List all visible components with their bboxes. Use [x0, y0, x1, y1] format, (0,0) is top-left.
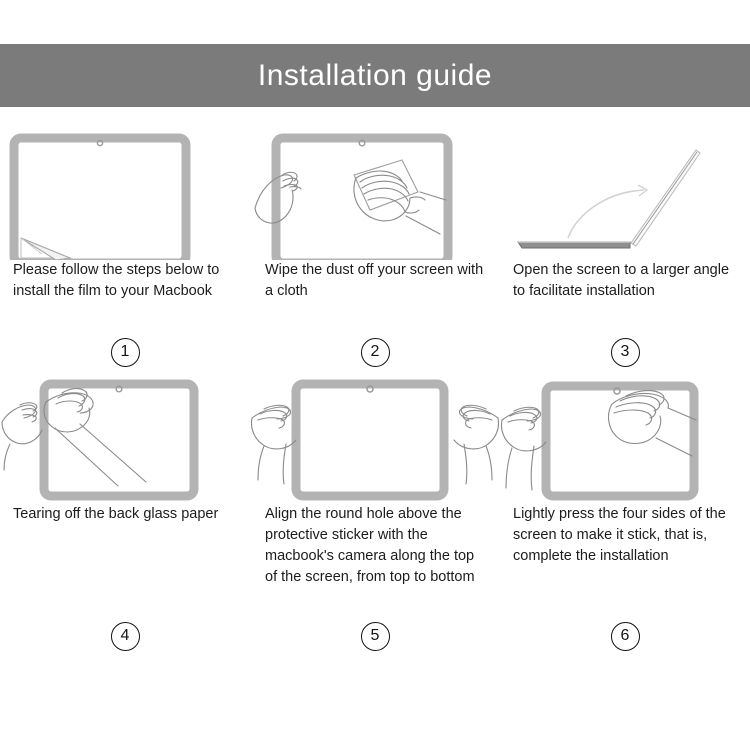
step-2-number-wrap: 2 [250, 330, 500, 374]
step-1-illustration [0, 130, 250, 260]
left-hand-icon [251, 405, 296, 484]
step-number-badge: 3 [611, 338, 640, 367]
step-5-number-wrap: 5 [250, 614, 500, 658]
step-card-4: Tearing off the back glass paper 4 [0, 374, 250, 658]
screen-frame-icon [14, 138, 186, 260]
step-6-illustration [500, 374, 750, 504]
right-hand-peeling-icon [44, 389, 146, 486]
step-card-3: Open the screen to a larger angle to fac… [500, 130, 750, 374]
screen-frame-icon [546, 386, 694, 496]
steps-grid: Please follow the steps below to install… [0, 130, 750, 658]
step-number-badge: 6 [611, 622, 640, 651]
right-hand-icon [454, 405, 499, 484]
open-angle-arrow-icon [568, 185, 647, 238]
step-6-number-wrap: 6 [500, 614, 750, 658]
step-number-badge: 4 [111, 622, 140, 651]
pressing-hand-icon [609, 391, 696, 456]
step-3-illustration [500, 130, 750, 260]
step-1-number-wrap: 1 [0, 330, 250, 374]
left-hand-icon [501, 407, 546, 490]
step-card-1: Please follow the steps below to install… [0, 130, 250, 374]
left-hand-icon [2, 403, 42, 470]
step-3-number-wrap: 3 [500, 330, 750, 374]
step-2-illustration [250, 130, 500, 260]
right-hand-with-cloth-icon [354, 160, 425, 221]
step-2-caption: Wipe the dust off your screen with a clo… [265, 260, 500, 326]
step-6-caption: Lightly press the four sides of the scre… [513, 504, 750, 614]
step-number-badge: 1 [111, 338, 140, 367]
step-card-5: Align the round hole above the protectiv… [250, 374, 500, 658]
step-5-illustration [250, 374, 500, 504]
step-4-illustration [0, 374, 250, 504]
step-4-number-wrap: 4 [0, 614, 250, 658]
step-4-caption: Tearing off the back glass paper [13, 504, 250, 614]
screen-frame-icon [296, 384, 444, 496]
header-banner: Installation guide [0, 44, 750, 107]
step-card-6: Lightly press the four sides of the scre… [500, 374, 750, 658]
step-number-badge: 2 [361, 338, 390, 367]
step-number-badge: 5 [361, 622, 390, 651]
step-3-caption: Open the screen to a larger angle to fac… [513, 260, 750, 326]
peeling-film-corner-icon [21, 238, 70, 260]
step-1-caption: Please follow the steps below to install… [13, 260, 250, 326]
page-title: Installation guide [258, 61, 492, 91]
step-card-2: Wipe the dust off your screen with a clo… [250, 130, 500, 374]
installation-guide-page: Installation guide Please follow [0, 0, 750, 750]
screen-frame-icon [276, 138, 448, 260]
step-5-caption: Align the round hole above the protectiv… [265, 504, 500, 614]
